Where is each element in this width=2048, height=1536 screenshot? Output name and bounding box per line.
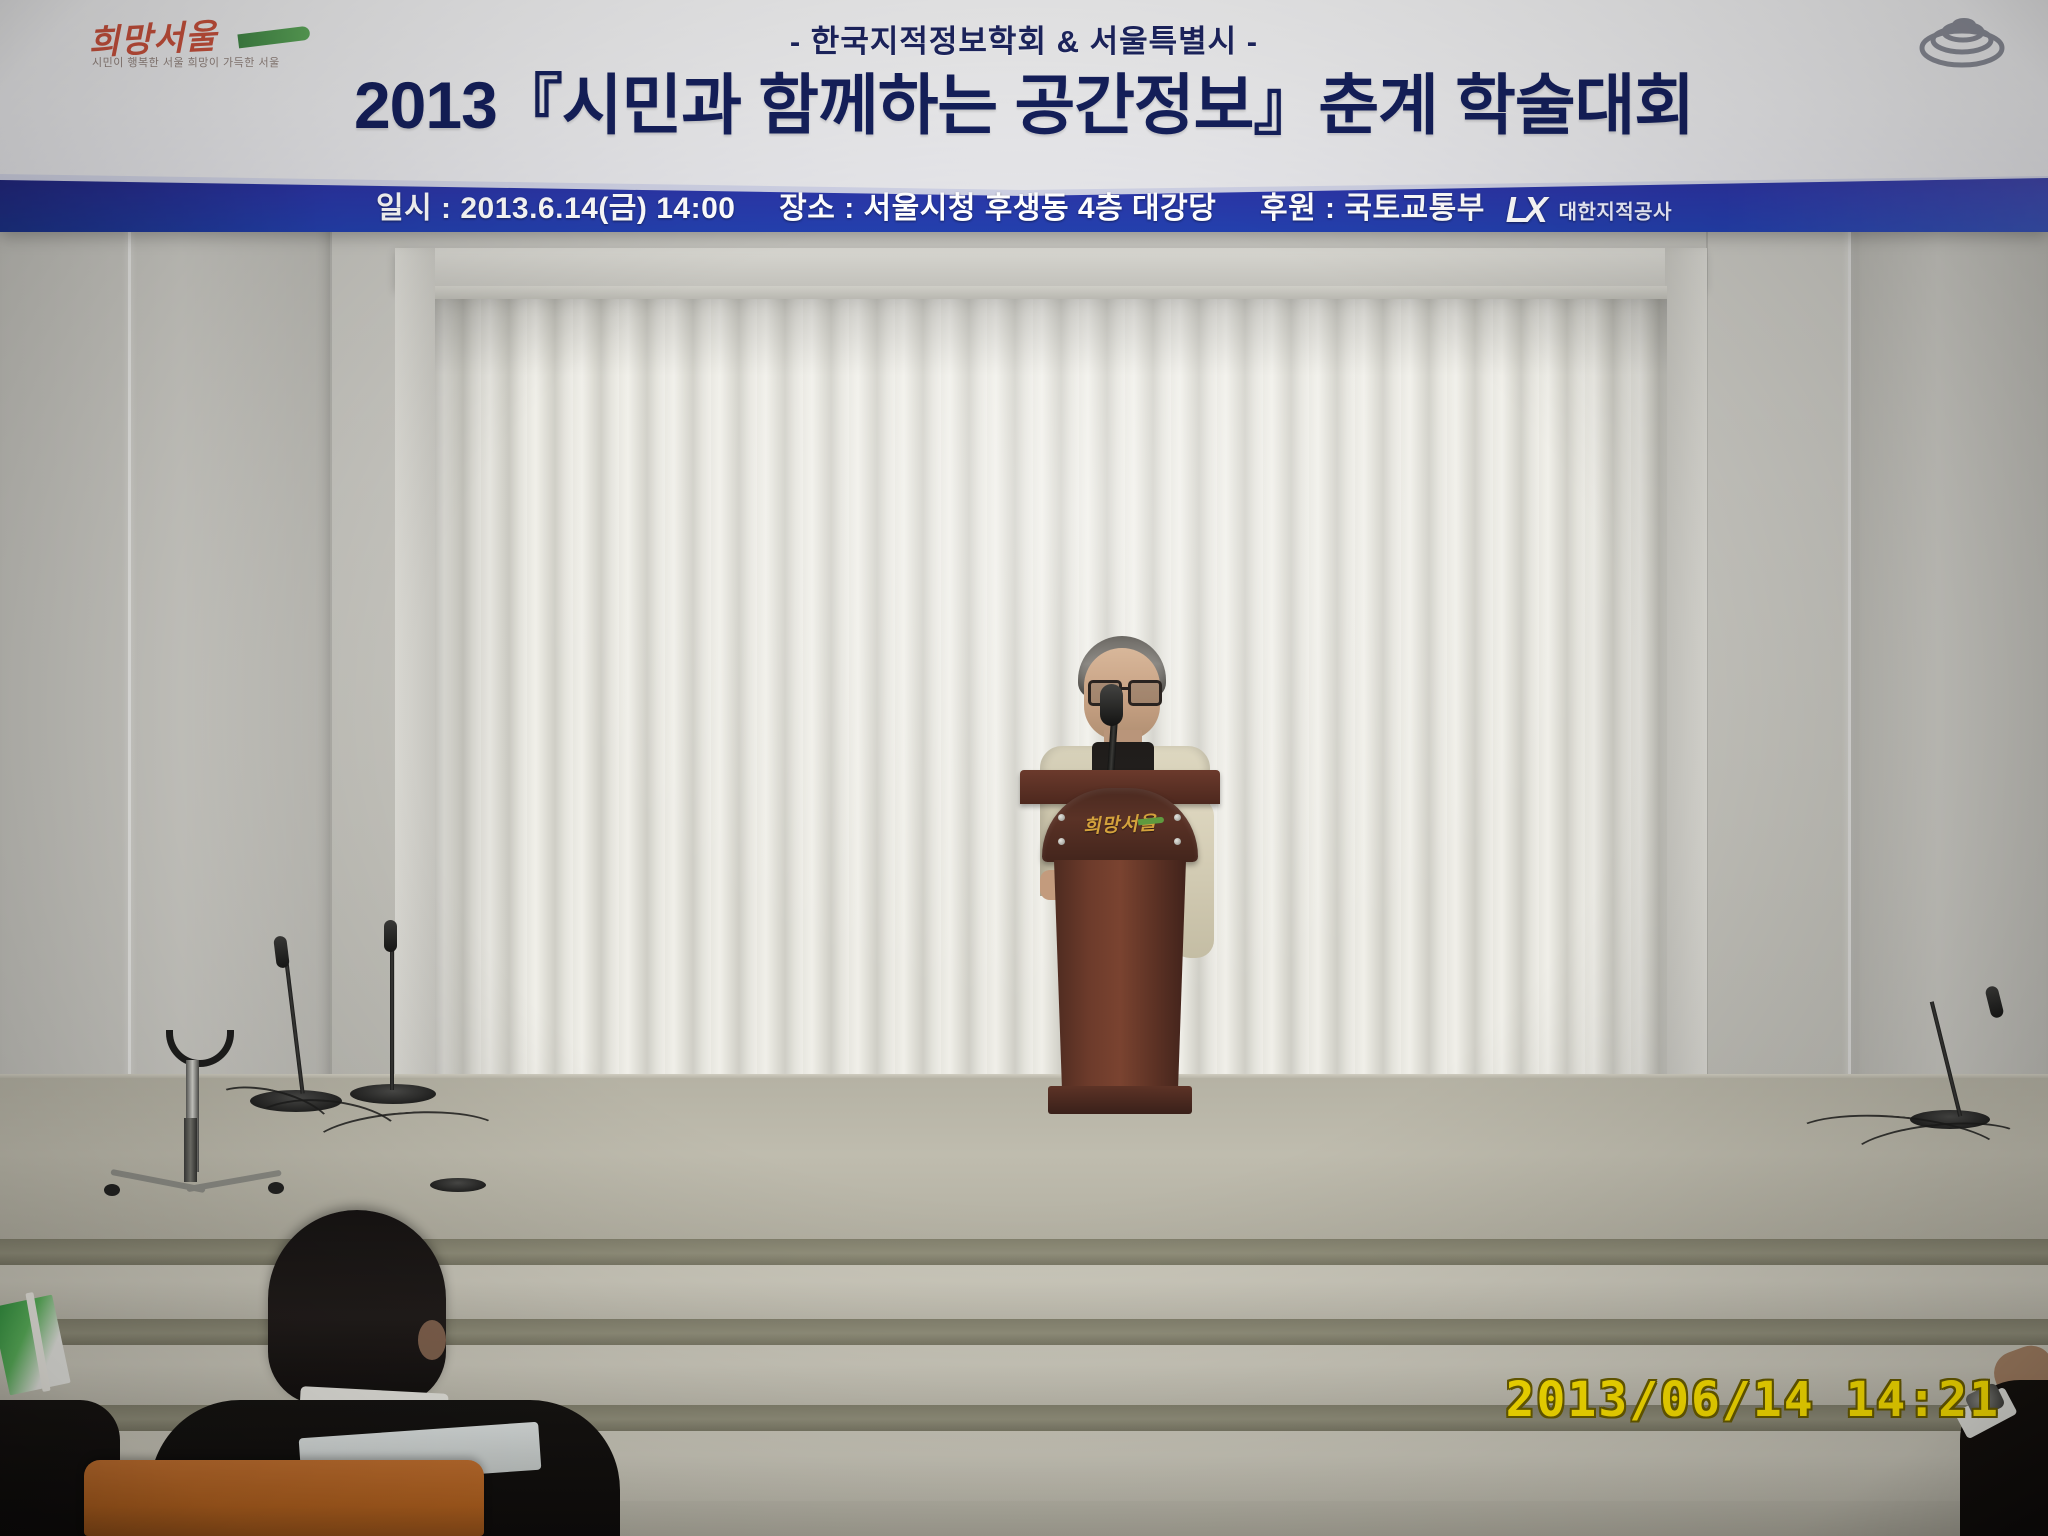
spiral-logo-icon xyxy=(1916,8,2008,68)
podium-base xyxy=(1048,1086,1192,1114)
lx-logo-subtext: 대한지적공사 xyxy=(1559,202,1672,224)
podium-microphone-head xyxy=(1100,684,1123,726)
banner-date: 일시 : 2013.6.14(금) 14:00 xyxy=(376,192,735,225)
banner-title: 2013『시민과 함께하는 공간정보』춘계 학술대회 xyxy=(0,52,2048,148)
audience-chair-back xyxy=(84,1460,484,1536)
podium: 희망서울 xyxy=(1020,770,1220,1240)
banner-sponsor: 후원 : 국토교통부 xyxy=(1260,192,1485,225)
hope-seoul-logo: 희망서울 시민이 행복한 서울 희망이 가득한 서울 xyxy=(70,6,300,78)
podium-column xyxy=(1050,860,1190,1090)
attendee-ear xyxy=(418,1320,446,1360)
stand-foot xyxy=(104,1184,120,1196)
lx-logo-icon: LX xyxy=(1506,189,1544,231)
stand-foot xyxy=(268,1182,284,1194)
podium-screw xyxy=(1174,814,1181,821)
podium-screw xyxy=(1058,838,1065,845)
glasses-lens-right xyxy=(1128,680,1162,706)
hope-seoul-swoosh-icon xyxy=(237,26,310,49)
photograph-canvas: 희망서울 - 한국지적정보학회 & 서울특별시 - 2013『시민과 함께하는 … xyxy=(0,0,2048,1536)
banner-info-line: 일시 : 2013.6.14(금) 14:00 장소 : 서울시청 후생동 4층… xyxy=(0,183,2048,231)
mic-clip xyxy=(166,1030,234,1067)
attendee-head xyxy=(268,1210,446,1405)
hope-seoul-tagline: 시민이 행복한 서울 희망이 가득한 서울 xyxy=(92,54,280,70)
banner-venue: 장소 : 서울시청 후생동 4층 대강당 xyxy=(779,192,1216,225)
event-banner: - 한국지적정보학회 & 서울특별시 - 2013『시민과 함께하는 공간정보』… xyxy=(0,0,2048,232)
podium-screw xyxy=(1174,838,1181,845)
podium-screw xyxy=(1058,814,1065,821)
stand-pole-lower xyxy=(184,1118,197,1182)
camera-timestamp: 2013/06/14 14:21 xyxy=(1506,1372,2000,1428)
